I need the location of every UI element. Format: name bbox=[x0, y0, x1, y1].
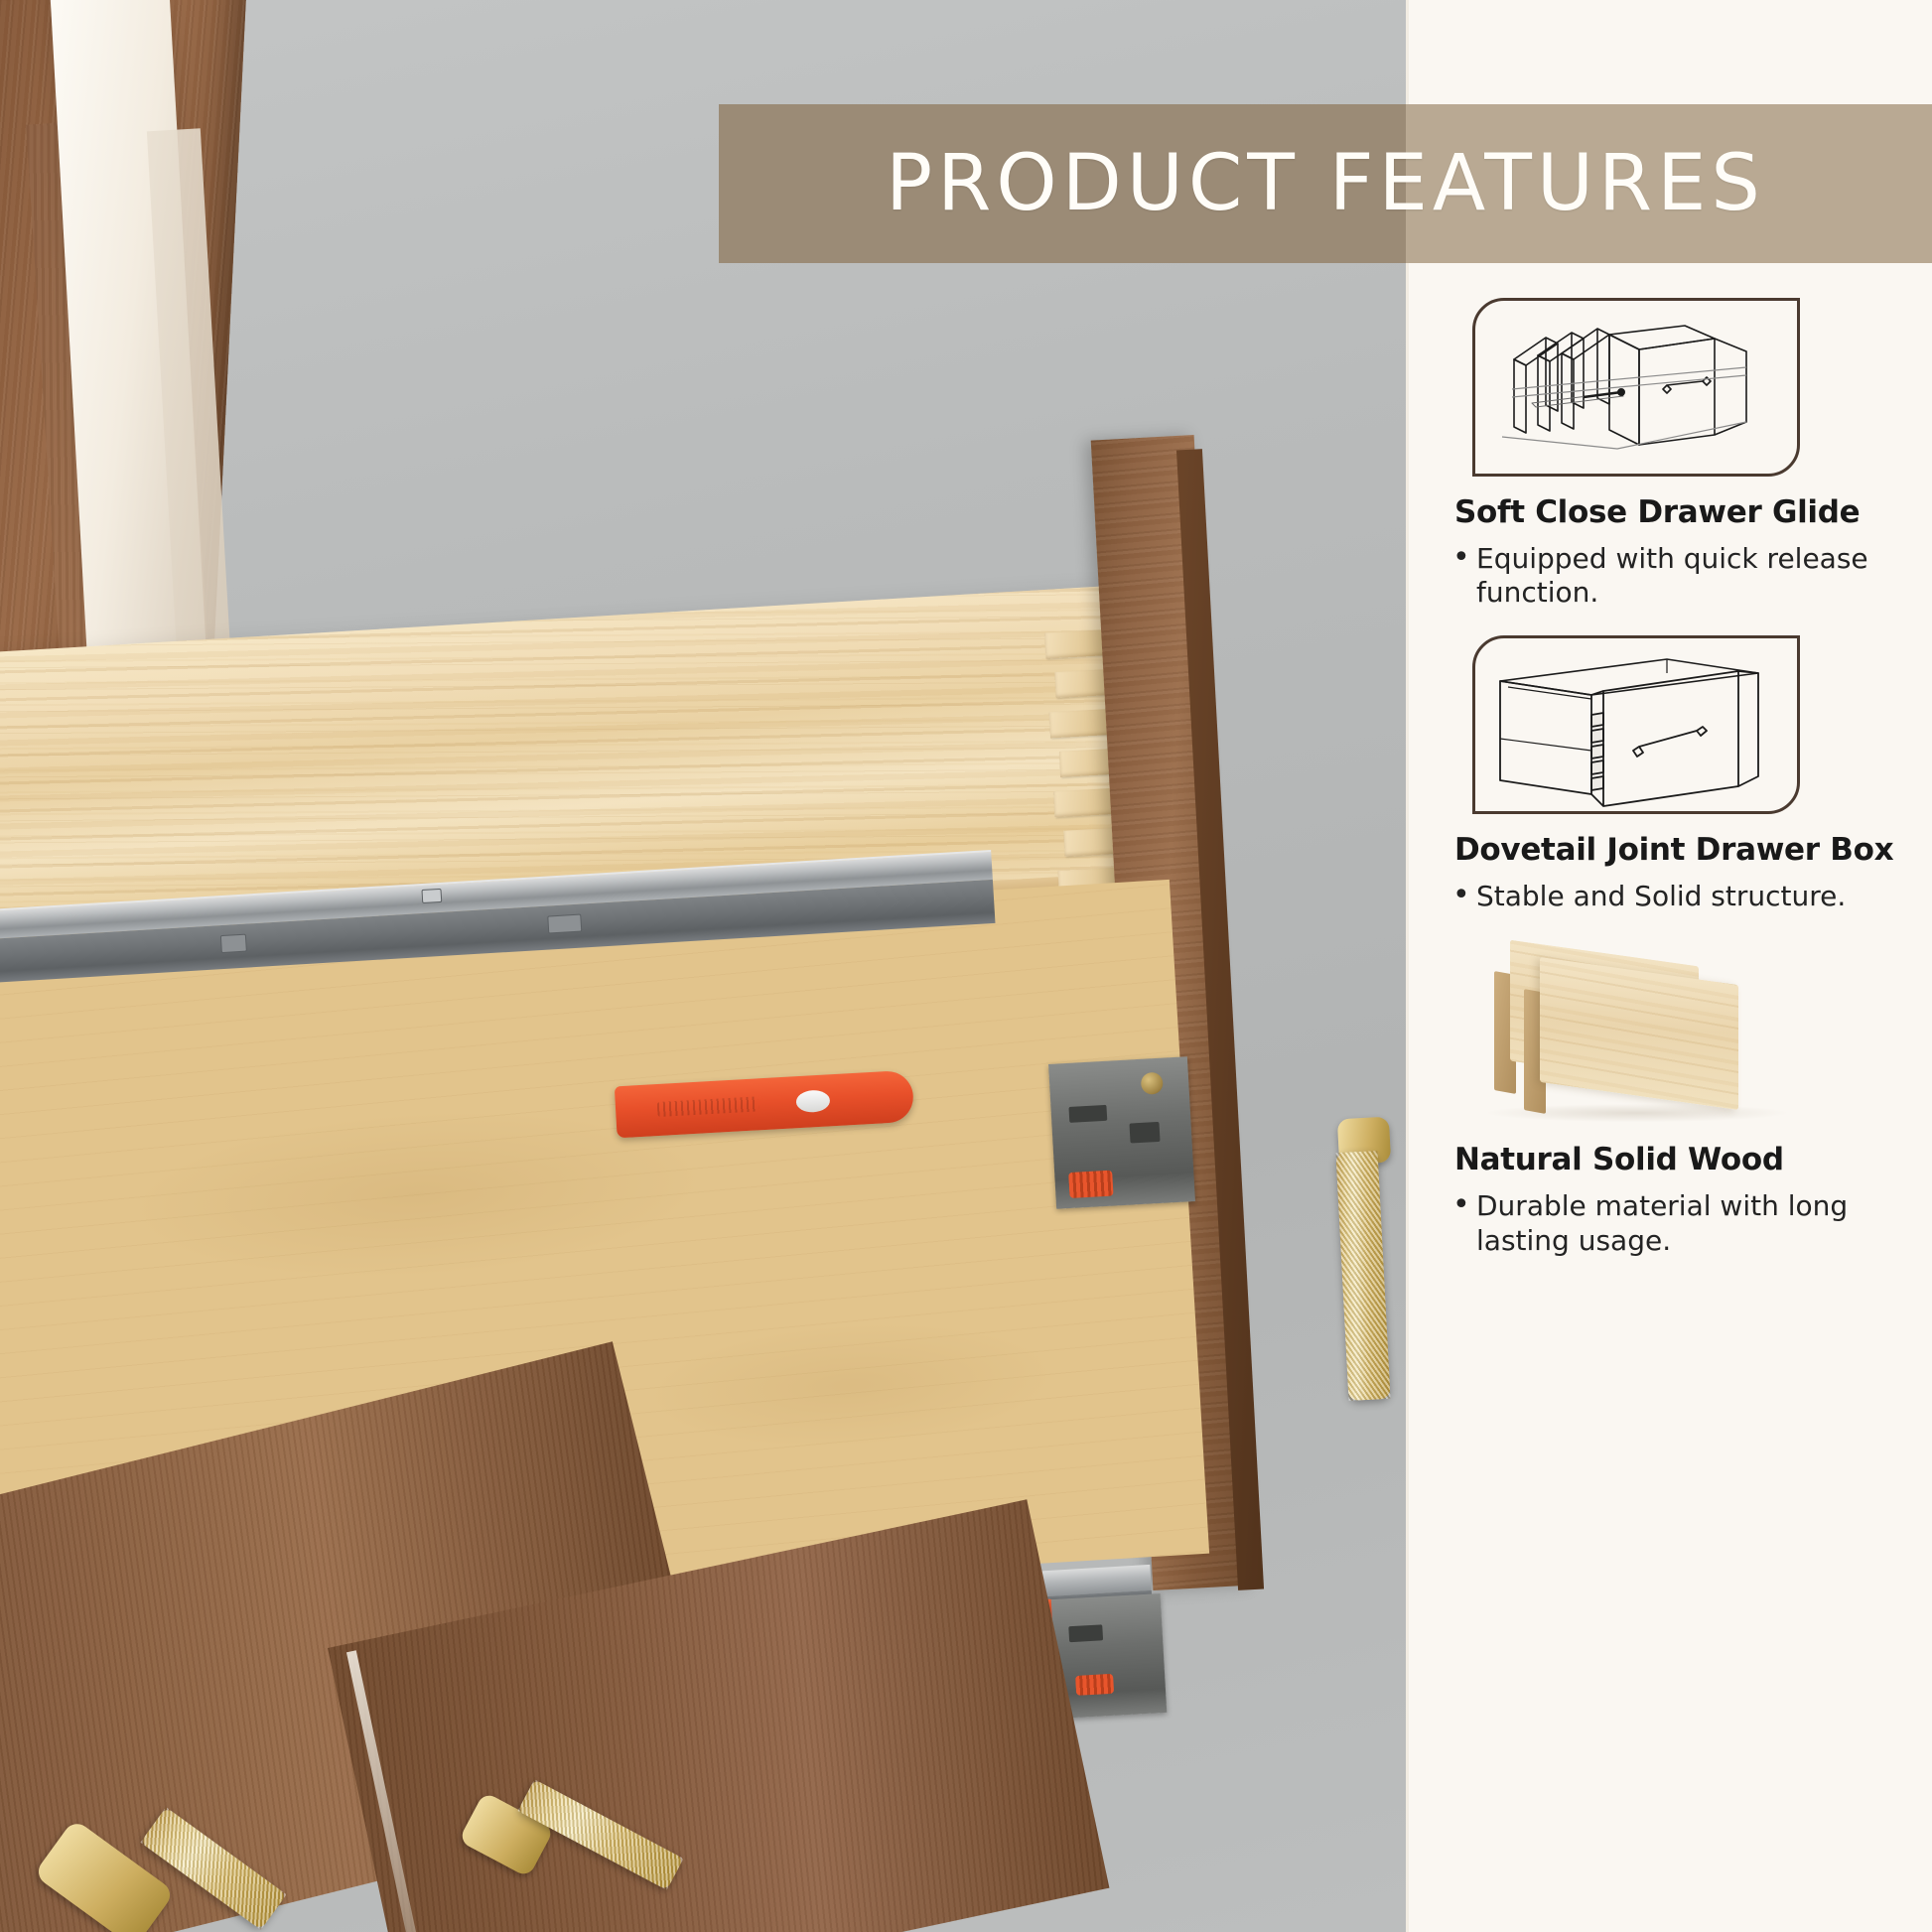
solid-wood-planks-image bbox=[1466, 939, 1804, 1128]
feature-title: Dovetail Joint Drawer Box bbox=[1454, 832, 1894, 868]
plank-front bbox=[1540, 957, 1738, 1110]
feature-item-soft-close: Soft Close Drawer Glide Equipped with qu… bbox=[1447, 298, 1894, 610]
features-list: Soft Close Drawer Glide Equipped with qu… bbox=[1409, 298, 1932, 1284]
dovetail-drawer-box-icon bbox=[1472, 635, 1800, 814]
feature-item-dovetail: Dovetail Joint Drawer Box Stable and Sol… bbox=[1447, 635, 1894, 913]
feature-bullets: Stable and Solid structure. bbox=[1450, 880, 1894, 913]
feature-bullets: Equipped with quick release function. bbox=[1450, 542, 1894, 610]
features-panel: Soft Close Drawer Glide Equipped with qu… bbox=[1406, 0, 1932, 1932]
feature-bullet: Equipped with quick release function. bbox=[1450, 542, 1894, 610]
product-photo bbox=[0, 0, 1406, 1932]
header-banner: PRODUCT FEATURES bbox=[719, 104, 1932, 263]
feature-bullets: Durable material with long lasting usage… bbox=[1450, 1189, 1894, 1257]
slide-mount-bracket-upper bbox=[1048, 1056, 1195, 1209]
feature-title: Natural Solid Wood bbox=[1454, 1142, 1894, 1177]
brass-knurled-handle-right[interactable] bbox=[1335, 1151, 1390, 1401]
feature-item-solid-wood: Natural Solid Wood Durable material with… bbox=[1447, 939, 1894, 1257]
page-title: PRODUCT FEATURES bbox=[886, 139, 1765, 228]
feature-bullet: Stable and Solid structure. bbox=[1450, 880, 1894, 913]
feature-bullet: Durable material with long lasting usage… bbox=[1450, 1189, 1894, 1257]
drawer-glide-icon bbox=[1472, 298, 1800, 477]
feature-title: Soft Close Drawer Glide bbox=[1454, 494, 1894, 530]
infographic-stage: Soft Close Drawer Glide Equipped with qu… bbox=[0, 0, 1932, 1932]
